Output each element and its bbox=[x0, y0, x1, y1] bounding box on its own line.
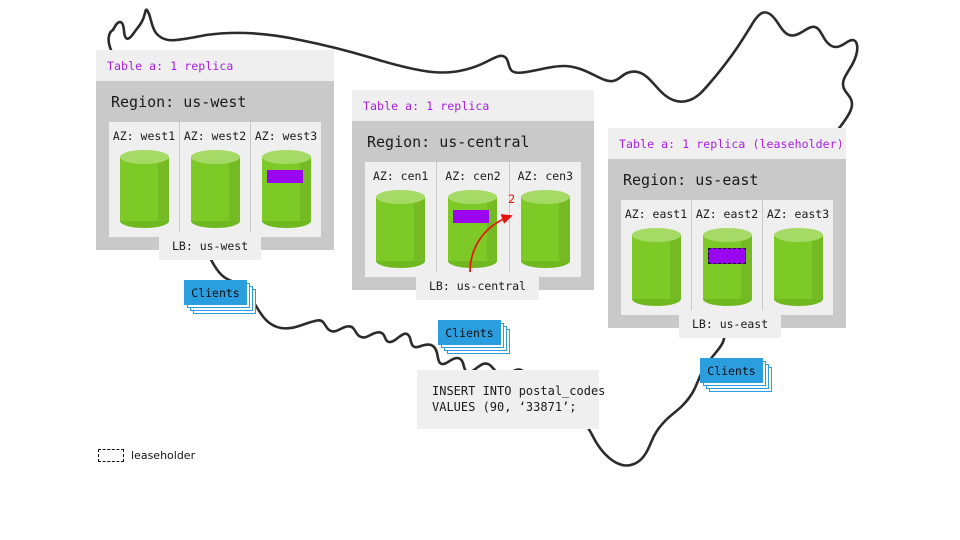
leaseholder-marker-east2 bbox=[708, 248, 746, 264]
cylinder-cap bbox=[703, 228, 752, 242]
az-label-east2: AZ: east2 bbox=[696, 207, 758, 221]
cylinder-shade bbox=[812, 235, 823, 299]
az-label-cen1: AZ: cen1 bbox=[373, 169, 428, 183]
cylinder-shade bbox=[229, 157, 240, 221]
az-label-cen2: AZ: cen2 bbox=[445, 169, 500, 183]
cylinder-cap bbox=[774, 228, 823, 242]
clients-label-us-east[interactable]: Clients bbox=[700, 358, 763, 383]
dashed-rect-icon bbox=[98, 449, 124, 462]
node-cylinder-east2[interactable] bbox=[703, 228, 752, 306]
cylinder-shade bbox=[559, 197, 570, 261]
az-cell-cen1[interactable]: AZ: cen1 bbox=[365, 162, 437, 277]
clients-button-us-west[interactable]: Clients bbox=[184, 280, 256, 314]
cylinder-cap bbox=[191, 150, 240, 164]
clients-button-us-central[interactable]: Clients bbox=[438, 320, 510, 354]
replica-marker-west3 bbox=[267, 170, 303, 183]
replica-marker-cen2 bbox=[453, 210, 489, 223]
region-body-us-central: Region: us-central AZ: cen1 AZ: cen2 bbox=[352, 121, 594, 290]
sql-line-1: INSERT INTO postal_codes bbox=[432, 384, 605, 398]
az-row-us-central: AZ: cen1 AZ: cen2 bbox=[365, 162, 581, 277]
routing-arrow-label: 2 bbox=[508, 192, 515, 206]
cylinder-shade bbox=[741, 235, 752, 299]
node-cylinder-cen1[interactable] bbox=[376, 190, 425, 268]
az-cell-cen3[interactable]: AZ: cen3 bbox=[510, 162, 581, 277]
node-cylinder-cen2[interactable] bbox=[448, 190, 497, 268]
az-label-east3: AZ: east3 bbox=[767, 207, 829, 221]
cylinder-shade bbox=[414, 197, 425, 261]
az-cell-east3[interactable]: AZ: east3 bbox=[763, 200, 833, 315]
az-label-west1: AZ: west1 bbox=[113, 129, 175, 143]
az-row-us-east: AZ: east1 AZ: east2 bbox=[621, 200, 833, 315]
cylinder-shade bbox=[158, 157, 169, 221]
az-label-cen3: AZ: cen3 bbox=[518, 169, 573, 183]
cylinder-cap bbox=[376, 190, 425, 204]
az-label-west3: AZ: west3 bbox=[255, 129, 317, 143]
sql-line-2: VALUES (90, ‘33871’; bbox=[432, 400, 577, 414]
region-panel-us-west: Table a: 1 replica Region: us-west AZ: w… bbox=[96, 50, 334, 250]
cylinder-shade bbox=[670, 235, 681, 299]
region-panel-us-east: Table a: 1 replica (leaseholder) Region:… bbox=[608, 128, 846, 328]
node-cylinder-east1[interactable] bbox=[632, 228, 681, 306]
replica-label-us-central: Table a: 1 replica bbox=[352, 90, 594, 121]
cylinder-cap bbox=[521, 190, 570, 204]
az-cell-east1[interactable]: AZ: east1 bbox=[621, 200, 692, 315]
node-cylinder-west3[interactable] bbox=[262, 150, 311, 228]
sql-statement-box: INSERT INTO postal_codes VALUES (90, ‘33… bbox=[417, 370, 599, 429]
az-row-us-west: AZ: west1 AZ: west2 bbox=[109, 122, 321, 237]
region-body-us-west: Region: us-west AZ: west1 AZ: west2 bbox=[96, 81, 334, 250]
lb-box-us-west[interactable]: LB: us-west bbox=[159, 232, 261, 260]
az-cell-west2[interactable]: AZ: west2 bbox=[180, 122, 251, 237]
node-cylinder-east3[interactable] bbox=[774, 228, 823, 306]
clients-button-us-east[interactable]: Clients bbox=[700, 358, 772, 392]
az-label-east1: AZ: east1 bbox=[625, 207, 687, 221]
legend: leaseholder bbox=[98, 449, 195, 462]
cylinder-cap bbox=[632, 228, 681, 242]
legend-label: leaseholder bbox=[131, 449, 195, 462]
cylinder-shade bbox=[300, 157, 311, 221]
node-cylinder-west2[interactable] bbox=[191, 150, 240, 228]
lb-box-us-east[interactable]: LB: us-east bbox=[679, 310, 781, 338]
cylinder-cap bbox=[262, 150, 311, 164]
cylinder-cap bbox=[120, 150, 169, 164]
region-body-us-east: Region: us-east AZ: east1 AZ: east2 bbox=[608, 159, 846, 328]
diagram-canvas: Table a: 1 replica Region: us-west AZ: w… bbox=[0, 0, 960, 540]
region-title-us-central: Region: us-central bbox=[365, 121, 581, 162]
lb-box-us-central[interactable]: LB: us-central bbox=[416, 272, 539, 300]
replica-label-us-west: Table a: 1 replica bbox=[96, 50, 334, 81]
node-cylinder-west1[interactable] bbox=[120, 150, 169, 228]
region-title-us-east: Region: us-east bbox=[621, 159, 833, 200]
az-label-west2: AZ: west2 bbox=[184, 129, 246, 143]
az-cell-west3[interactable]: AZ: west3 bbox=[251, 122, 321, 237]
node-cylinder-cen3[interactable] bbox=[521, 190, 570, 268]
az-cell-cen2[interactable]: AZ: cen2 bbox=[437, 162, 509, 277]
replica-label-us-east: Table a: 1 replica (leaseholder) bbox=[608, 128, 846, 159]
region-panel-us-central: Table a: 1 replica Region: us-central AZ… bbox=[352, 90, 594, 290]
cylinder-shade bbox=[487, 197, 498, 261]
clients-label-us-central[interactable]: Clients bbox=[438, 320, 501, 345]
region-title-us-west: Region: us-west bbox=[109, 81, 321, 122]
clients-label-us-west[interactable]: Clients bbox=[184, 280, 247, 305]
az-cell-west1[interactable]: AZ: west1 bbox=[109, 122, 180, 237]
az-cell-east2[interactable]: AZ: east2 bbox=[692, 200, 763, 315]
